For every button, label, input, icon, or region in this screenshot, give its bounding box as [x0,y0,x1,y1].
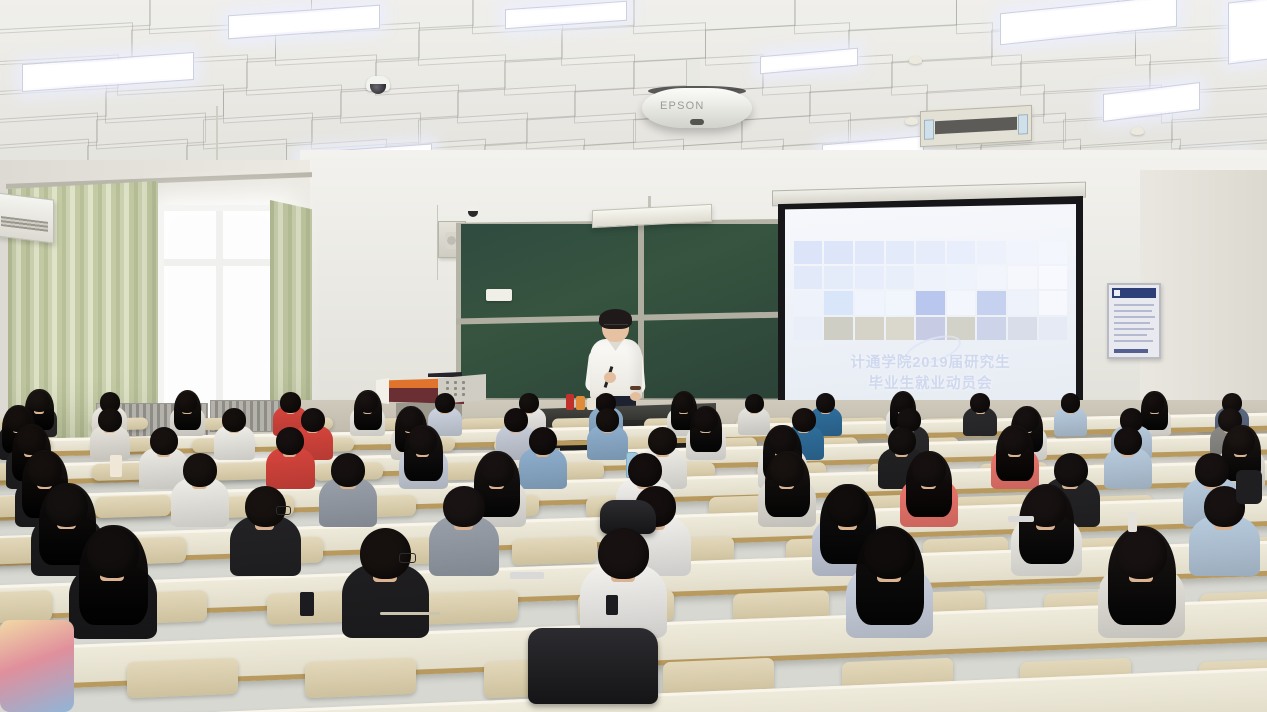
audience-head [770,453,804,487]
mosaic-cell [1039,266,1068,289]
desk-cable [970,586,1100,589]
smoke-detector-icon [1131,127,1144,135]
notice-header-bar [1112,288,1156,298]
mosaic-cell [824,266,853,289]
seat-back [512,537,597,566]
mosaic-cell [1008,266,1037,289]
mosaic-cell [947,241,976,264]
audience-head [864,528,915,579]
mosaic-cell [886,291,915,314]
audience-head [1145,393,1165,413]
audience-head [183,453,217,487]
mosaic-cell [794,291,823,314]
mosaic-cell [1008,241,1037,264]
audience-head [46,485,88,527]
lecture-hall-photo: EPSON [0,0,1267,712]
audience-head [1116,528,1167,579]
mosaic-cell [947,291,976,314]
paper-cup [110,455,122,477]
mosaic-cell [1039,291,1068,314]
mosaic-cell [794,317,823,340]
colorful-backpack [0,620,74,712]
laptop [510,572,544,579]
desk-cable [380,612,440,615]
glasses-icon [399,553,416,563]
audience-head [596,408,620,432]
dome-camera-icon [366,76,390,91]
audience-head [745,394,764,413]
glasses-icon [604,324,628,330]
audience-head [443,486,484,527]
audience-head [792,408,816,432]
seat-back [127,658,238,699]
audience-head [98,408,122,432]
audience-head [480,453,514,487]
slide-title-line2: 毕业生就业动员会 [785,374,1076,395]
audience-head [222,408,246,432]
seat-back [422,590,518,625]
mosaic-cell [886,266,915,289]
mosaic-cell [1039,241,1068,264]
mosaic-cell [916,266,945,289]
mosaic-cell [886,317,915,340]
dark-bag [1236,470,1262,504]
audience-head [529,427,558,456]
mosaic-cell [855,317,884,340]
mosaic-cell [855,266,884,289]
chalk-box [486,289,512,301]
mosaic-cell [1008,317,1037,340]
laptop [1008,516,1034,522]
presenter-left-hand [604,372,616,383]
mosaic-cell [886,241,915,264]
audience-head [87,527,139,579]
audience-head [28,452,63,487]
orange-bottle [576,396,585,410]
mosaic-cell [916,241,945,264]
mosaic-cell [855,241,884,264]
audience-head [674,393,694,413]
slide-photo-mosaic [794,241,1068,340]
audience-head [694,408,718,432]
backpack [528,628,658,704]
mosaic-cell [1039,317,1068,340]
glasses-icon [276,506,290,515]
audience-head [177,392,197,412]
mosaic-cell [794,266,823,289]
projection-screen-surface: 计通学院2019届研究生 毕业生就业动员会 [785,204,1076,420]
audience-head [331,453,365,487]
audience-head [1195,453,1229,487]
ceiling-light-panel [1228,0,1267,65]
mosaic-cell [824,291,853,314]
smoke-detector-icon [905,117,918,125]
presenter [588,312,648,408]
phone [300,592,314,616]
audience-head [648,427,677,456]
slide-title: 计通学院2019届研究生 毕业生就业动员会 [785,353,1076,395]
mosaic-cell [794,241,823,264]
audience-head [276,427,305,456]
audience-head [1061,393,1081,413]
audience-head [435,393,455,413]
audience-head [827,486,868,527]
audience-head [1001,427,1030,456]
wall-camera-icon [466,206,480,215]
phone [606,595,618,615]
smoke-detector-icon [909,56,922,64]
mosaic-cell [947,266,976,289]
audience-head [280,392,300,412]
seat-back [95,495,171,518]
mosaic-cell [1008,291,1037,314]
audience-head [358,392,378,412]
seat-back [305,658,416,699]
audience-head [816,393,836,413]
mosaic-cell [824,317,853,340]
mosaic-cell [824,241,853,264]
projector-lens-icon [690,119,704,125]
audience-head [150,427,179,456]
water-bottle [1128,512,1137,532]
red-bottle [566,394,574,410]
audience-head [1054,453,1088,487]
mosaic-cell [916,291,945,314]
audience-head [504,408,528,432]
audience-head [628,453,662,487]
notice-footer-bar [1114,349,1148,353]
audience-head [970,393,990,413]
audience-head [888,427,917,456]
mosaic-cell [977,317,1006,340]
mosaic-cell [855,291,884,314]
mosaic-cell [977,266,1006,289]
audience-head [598,528,649,579]
console-monitor [428,372,462,377]
wall-air-conditioner [0,192,54,243]
presenter-right-hand [630,392,641,401]
audience-head [1227,427,1256,456]
ac-cassette-unit [920,105,1032,147]
wristwatch-icon [630,386,641,390]
mosaic-cell [977,291,1006,314]
audience-head [912,453,946,487]
audience-head [301,408,325,432]
audience-head [29,391,50,412]
projector-brand-label: EPSON [660,100,720,112]
audience-head [1114,427,1143,456]
slide-title-line1: 计通学院2019届研究生 [785,353,1076,374]
audience-head [409,427,438,456]
mosaic-cell [977,241,1006,264]
wall-notice-board [1107,283,1161,359]
